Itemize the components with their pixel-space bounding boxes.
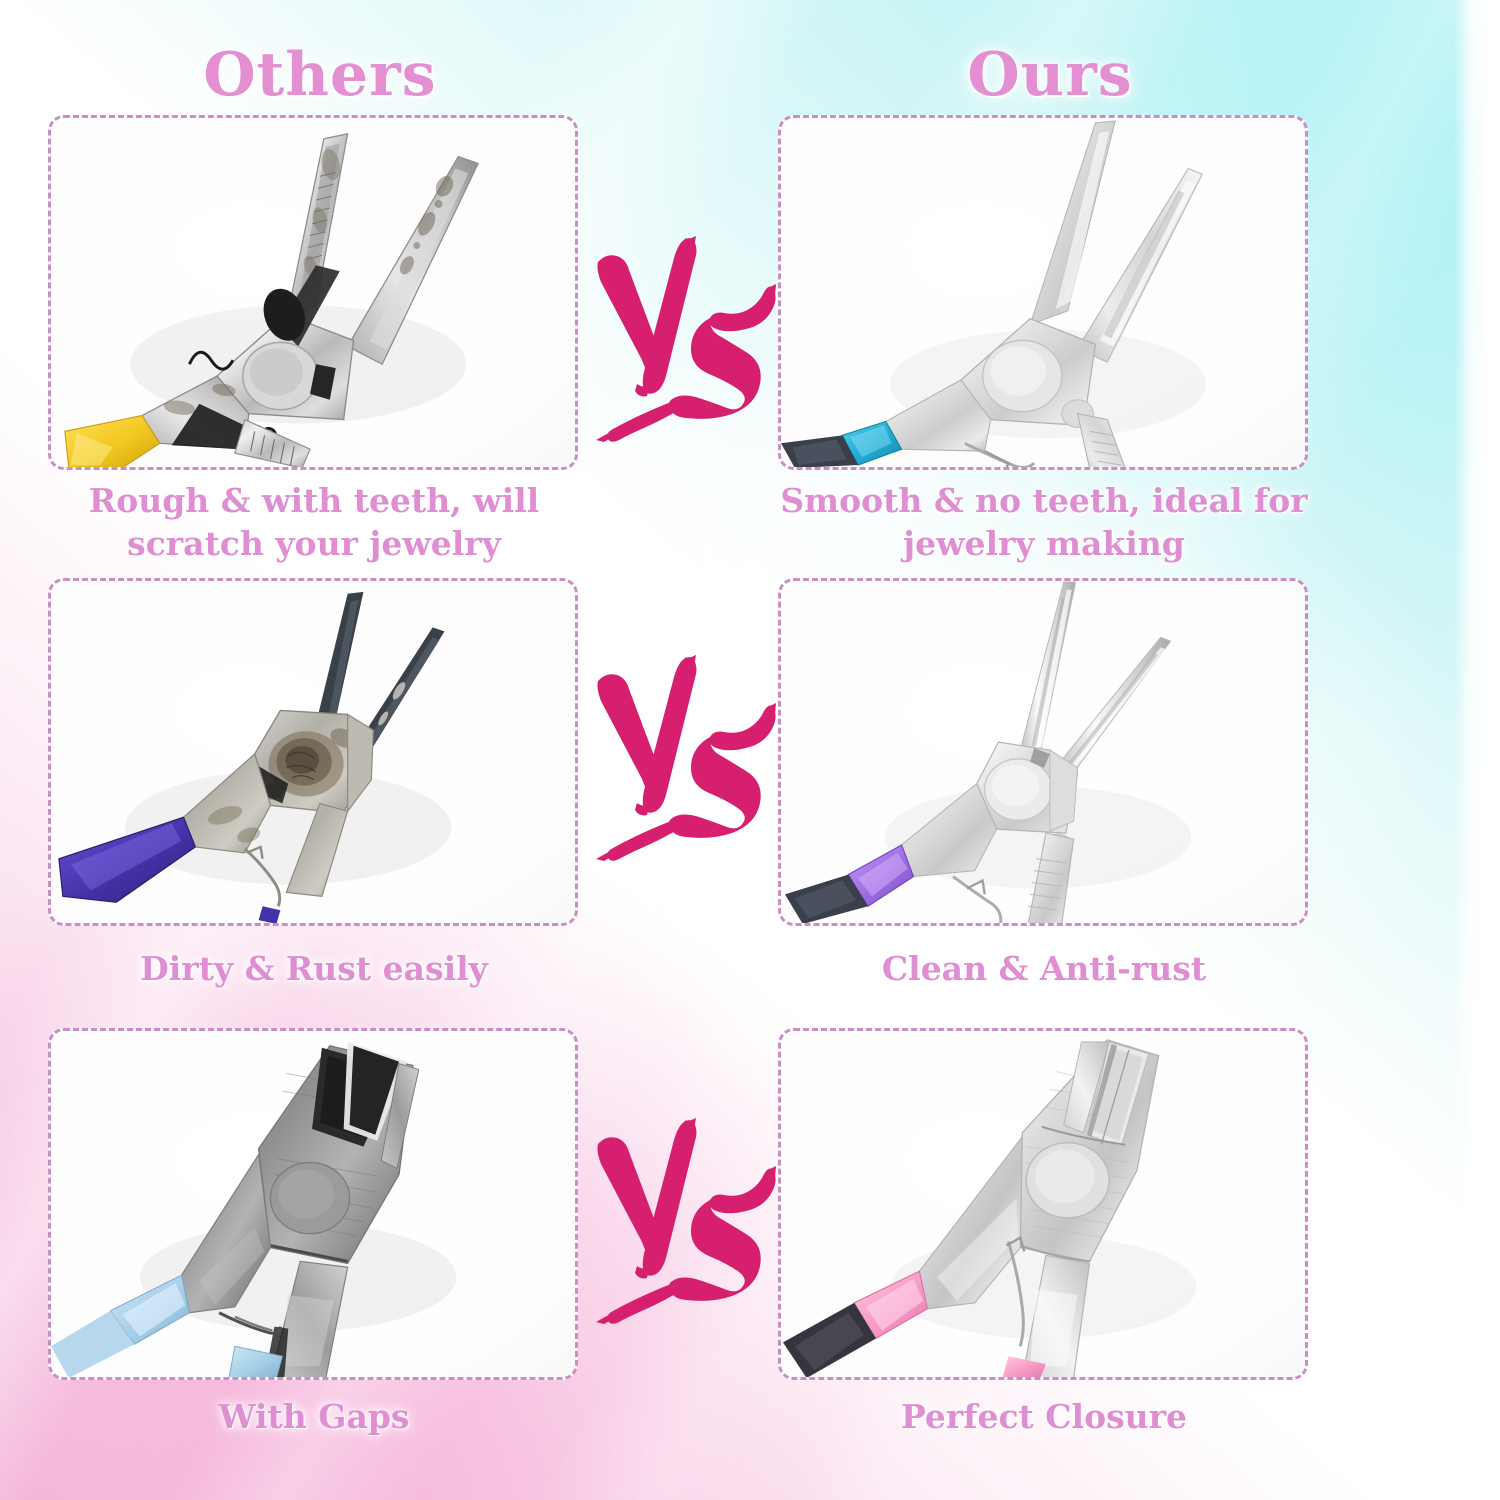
comparison-infographic: Others Ours bbox=[0, 0, 1500, 1500]
caption-others-row3: With Gaps bbox=[40, 1396, 588, 1439]
vs-brush-icon bbox=[588, 1118, 780, 1328]
pliers-round-nose-rusty-illustration bbox=[51, 581, 575, 923]
photo-frame-ours-row1 bbox=[778, 115, 1308, 470]
vs-divider-row1 bbox=[588, 236, 780, 446]
photo-frame-others-row3 bbox=[48, 1028, 578, 1380]
column-title-others: Others bbox=[60, 40, 580, 110]
vs-brush-icon bbox=[588, 655, 780, 865]
photo-frame-ours-row3 bbox=[778, 1028, 1308, 1380]
pliers-chain-nose-clean-illustration bbox=[781, 118, 1305, 467]
photo-frame-others-row1 bbox=[48, 115, 578, 470]
vs-brush-icon bbox=[588, 236, 780, 446]
photo-frame-ours-row2 bbox=[778, 578, 1308, 926]
caption-ours-row2: Clean & Anti-rust bbox=[768, 948, 1320, 991]
column-title-ours: Ours bbox=[790, 40, 1310, 110]
pliers-round-nose-clean-illustration bbox=[781, 581, 1305, 923]
caption-others-row2: Dirty & Rust easily bbox=[40, 948, 588, 991]
side-cutter-with-gap-illustration bbox=[51, 1031, 575, 1377]
caption-ours-row3: Perfect Closure bbox=[768, 1396, 1320, 1439]
vs-divider-row2 bbox=[588, 655, 780, 865]
pliers-chain-nose-worn-illustration bbox=[51, 118, 575, 467]
caption-others-row1: Rough & with teeth, will scratch your je… bbox=[40, 480, 588, 566]
photo-frame-others-row2 bbox=[48, 578, 578, 926]
flush-cutter-perfect-closure-illustration bbox=[781, 1031, 1305, 1377]
vs-divider-row3 bbox=[588, 1118, 780, 1328]
caption-ours-row1: Smooth & no teeth, ideal for jewelry mak… bbox=[768, 480, 1320, 566]
